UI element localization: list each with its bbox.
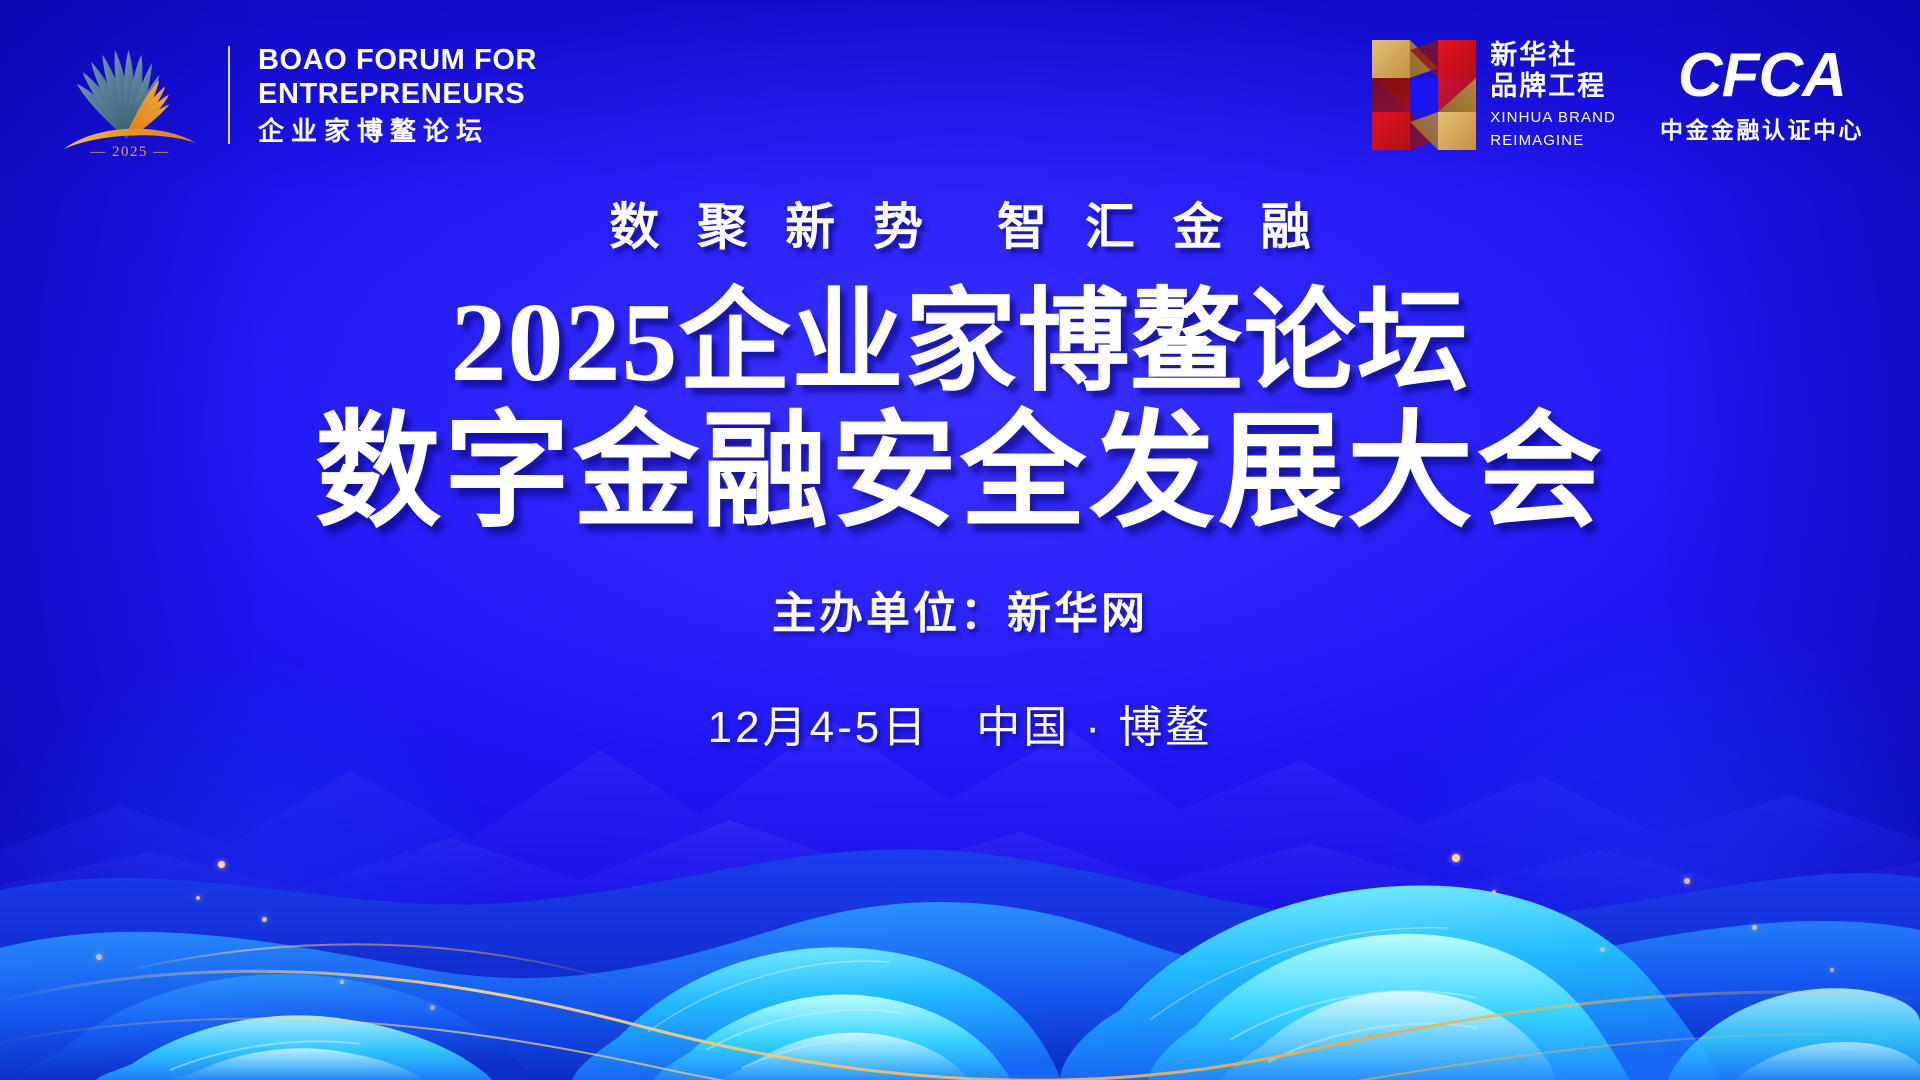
bfe-cn-line: 企业家博鳌论坛 (258, 114, 537, 148)
xinhua-x-mark-icon (1372, 40, 1476, 150)
conference-banner: — 2025 — BOAO FORUM FOR ENTREPRENEURS 企业… (0, 0, 1920, 1080)
cfca-brand-lockup: CFCA 中金金融认证中心 (1660, 45, 1864, 145)
bfe-en-line1: BOAO FORUM FOR (258, 43, 537, 77)
bfe-en-line2: ENTREPRENEURS (258, 77, 537, 111)
xinhua-cn-line2: 品牌工程 (1490, 71, 1616, 102)
banner-main-copy: 数 聚 新 势 智 汇 金 融 2025企业家博鳌论坛 数字金融安全发展大会 主… (0, 196, 1920, 756)
bfe-brand-lockup: — 2025 — BOAO FORUM FOR ENTREPRENEURS 企业… (58, 31, 537, 159)
event-tagline: 数 聚 新 势 智 汇 金 融 (0, 196, 1920, 258)
blue-ocean-wave-illustration (0, 680, 1920, 1080)
brand-divider (228, 46, 230, 144)
bfe-brand-text: BOAO FORUM FOR ENTREPRENEURS 企业家博鳌论坛 (258, 43, 537, 148)
xinhua-en-line1: XINHUA BRAND (1490, 107, 1616, 128)
xinhua-en-line2: REIMAGINE (1490, 130, 1616, 151)
cfca-wordmark: CFCA (1660, 45, 1864, 107)
bfe-year-label: — 2025 — (58, 144, 202, 161)
event-host: 主办单位：新华网 (0, 586, 1920, 642)
xinhua-text-block: 新华社 品牌工程 XINHUA BRAND REIMAGINE (1490, 40, 1616, 151)
sponsor-logos: 新华社 品牌工程 XINHUA BRAND REIMAGINE CFCA 中金金… (1372, 40, 1864, 151)
event-title-line2: 数字金融安全发展大会 (0, 408, 1920, 540)
xinhua-cn-line1: 新华社 (1490, 40, 1616, 71)
xinhua-brand-lockup: 新华社 品牌工程 XINHUA BRAND REIMAGINE (1372, 40, 1616, 151)
boao-shell-fan-logo-icon: — 2025 — (58, 31, 202, 159)
banner-header: — 2025 — BOAO FORUM FOR ENTREPRENEURS 企业… (0, 0, 1920, 190)
cfca-cn-line: 中金金融认证中心 (1660, 111, 1864, 145)
event-title-line1: 2025企业家博鳌论坛 (0, 280, 1920, 406)
